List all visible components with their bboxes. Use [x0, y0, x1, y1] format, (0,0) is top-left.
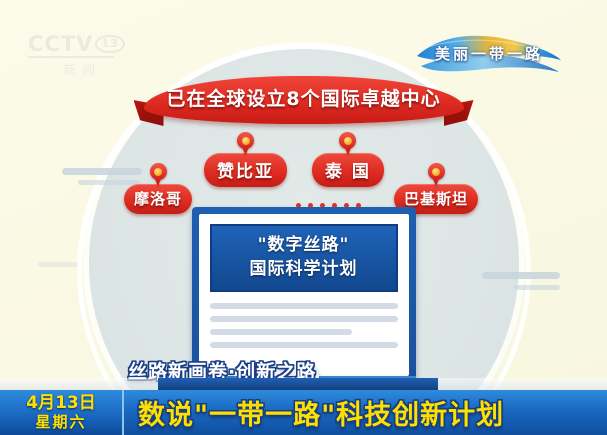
date-text: 4月13日 — [26, 394, 96, 413]
map-pin-icon — [339, 132, 356, 155]
screen-title-line1: "数字丝路" — [216, 233, 392, 257]
screen-title-line2: 国际科学计划 — [216, 257, 392, 281]
map-pin-icon — [150, 163, 167, 186]
cctv-wordmark: CCTV13 — [28, 33, 136, 55]
placeholder-line — [210, 329, 353, 335]
map-pin-icon — [237, 132, 254, 155]
cctv-channel-number: 13 — [95, 35, 124, 53]
map-pin-icon — [428, 163, 445, 186]
placeholder-line — [210, 316, 398, 322]
cctv-logo-text: CCTV — [28, 32, 93, 56]
date-box: 4月13日 星期六 — [0, 390, 124, 435]
broadcast-screenshot: CCTV13 新闻 — [0, 0, 607, 435]
weekday-text: 星期六 — [35, 413, 86, 431]
cloud-decoration — [38, 262, 78, 267]
device-frame: "数字丝路" 国际科学计划 — [192, 207, 416, 376]
placeholder-line — [210, 303, 398, 309]
cctv-logo-subtitle: 新闻 — [28, 60, 136, 79]
banner-text: 已在全球设立8个国际卓越中心 — [144, 74, 464, 124]
cloud-decoration — [482, 272, 560, 279]
placeholder-line — [210, 342, 398, 348]
headline-container: 数说"一带一路"科技创新计划 — [124, 390, 607, 435]
map-pin-label: 摩洛哥 — [124, 184, 192, 214]
map-pin-label: 泰 国 — [312, 153, 384, 187]
headline-arc-banner: 已在全球设立8个国际卓越中心 — [144, 74, 464, 130]
map-pin-zambia: 赞比亚 — [204, 132, 287, 187]
cctv-logo-rule — [28, 56, 114, 58]
headline-text: 数说"一带一路"科技创新计划 — [138, 393, 504, 432]
ticker-bar — [158, 378, 438, 390]
lower-third-banner: 4月13日 星期六 数说"一带一路"科技创新计划 — [0, 390, 607, 435]
device-screen: "数字丝路" 国际科学计划 — [199, 214, 409, 376]
device-screen-title: "数字丝路" 国际科学计划 — [210, 224, 398, 292]
device-placeholder-lines — [210, 303, 398, 348]
ticker-strip — [0, 378, 607, 390]
map-pin-morocco: 摩洛哥 — [124, 163, 192, 214]
map-pin-label: 赞比亚 — [204, 153, 287, 187]
cloud-decoration — [514, 285, 560, 290]
cctv-channel-logo: CCTV13 新闻 — [28, 33, 136, 77]
map-pin-thailand: 泰 国 — [312, 132, 384, 187]
